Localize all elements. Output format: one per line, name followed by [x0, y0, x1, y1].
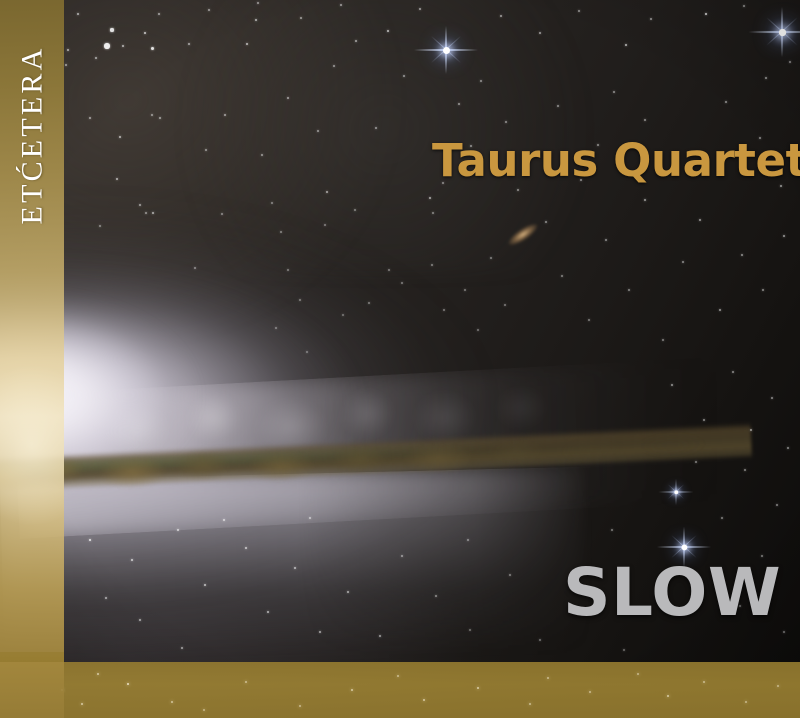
star — [509, 574, 511, 576]
star — [221, 213, 223, 215]
star — [224, 114, 226, 116]
star — [208, 9, 210, 11]
star — [545, 221, 547, 223]
star — [379, 635, 381, 637]
star — [667, 695, 669, 697]
star — [703, 419, 705, 421]
star — [477, 329, 479, 331]
star — [429, 197, 431, 199]
star — [504, 304, 506, 306]
star — [368, 302, 370, 304]
star — [741, 254, 743, 256]
star — [77, 13, 79, 15]
star — [245, 681, 247, 683]
star — [105, 597, 107, 599]
star — [194, 267, 196, 269]
record-label-spine-wrapper: ETĆETERA — [0, 0, 64, 718]
star — [557, 105, 559, 107]
star — [95, 57, 97, 59]
star — [144, 32, 146, 34]
star — [188, 43, 190, 45]
star — [309, 517, 311, 519]
star — [354, 209, 356, 211]
star — [287, 269, 289, 271]
star — [388, 269, 390, 271]
star — [744, 469, 746, 471]
star — [699, 219, 701, 221]
star — [517, 189, 519, 191]
star — [89, 117, 91, 119]
star — [342, 314, 344, 316]
star — [326, 191, 328, 193]
star — [171, 701, 173, 703]
star — [611, 529, 613, 531]
album-title: SLOW — [563, 554, 781, 631]
star — [613, 91, 615, 93]
star — [255, 19, 257, 21]
star — [719, 309, 721, 311]
star — [122, 45, 124, 47]
album-cover: ETĆETERA Taurus Quartet SLOW — [0, 0, 800, 718]
star — [671, 384, 673, 386]
star — [561, 275, 563, 277]
star — [490, 257, 492, 259]
star — [625, 44, 627, 46]
star — [650, 18, 652, 20]
star — [139, 619, 141, 621]
star — [477, 687, 479, 689]
star — [159, 117, 161, 119]
star — [750, 429, 752, 431]
star — [116, 178, 118, 180]
star — [65, 64, 67, 66]
star — [403, 75, 405, 77]
star — [662, 339, 664, 341]
star — [529, 703, 531, 705]
record-label-name: ETĆETERA — [15, 46, 49, 225]
star — [205, 149, 207, 151]
star — [401, 282, 403, 284]
star — [67, 49, 69, 51]
star — [245, 547, 247, 549]
star — [745, 701, 747, 703]
star — [81, 703, 83, 705]
star — [319, 631, 321, 633]
star — [762, 289, 764, 291]
star — [605, 239, 607, 241]
star — [589, 691, 591, 693]
star — [419, 8, 421, 10]
star — [110, 28, 113, 31]
star — [505, 121, 507, 123]
star — [151, 47, 154, 50]
star — [637, 673, 639, 675]
star — [267, 611, 269, 613]
star — [271, 202, 273, 204]
star — [789, 61, 791, 63]
star — [333, 65, 335, 67]
star — [317, 130, 319, 132]
star — [458, 103, 460, 105]
star — [223, 519, 225, 521]
star — [119, 136, 121, 138]
star — [375, 127, 377, 129]
star — [299, 299, 301, 301]
star — [500, 15, 502, 17]
star — [682, 261, 684, 263]
star — [776, 504, 778, 506]
star — [705, 13, 708, 16]
star — [181, 647, 183, 649]
star — [695, 461, 697, 463]
star — [725, 101, 727, 103]
star — [435, 595, 437, 597]
star — [644, 199, 646, 201]
star — [152, 212, 154, 214]
star — [204, 584, 206, 586]
star — [131, 559, 133, 561]
star — [97, 673, 99, 675]
star — [203, 709, 205, 711]
star — [787, 447, 789, 449]
star — [261, 154, 263, 156]
star — [464, 289, 466, 291]
star — [324, 224, 326, 226]
star — [480, 80, 482, 82]
star — [401, 555, 403, 557]
star — [777, 685, 779, 687]
star — [275, 327, 277, 329]
star — [423, 699, 425, 701]
star — [151, 114, 153, 116]
star — [703, 681, 705, 683]
star — [104, 43, 109, 48]
star — [299, 705, 301, 707]
star — [287, 97, 289, 99]
bottom-band-star-layer — [0, 662, 800, 718]
star — [783, 631, 785, 633]
star — [397, 675, 399, 677]
star — [351, 689, 353, 691]
star — [547, 677, 549, 679]
star — [431, 264, 433, 266]
star — [145, 212, 147, 214]
star — [340, 4, 342, 6]
star — [306, 351, 308, 353]
star — [721, 517, 723, 519]
artist-title: Taurus Quartet — [432, 134, 800, 187]
star — [469, 629, 471, 631]
star — [294, 567, 296, 569]
star — [628, 289, 630, 291]
star — [644, 119, 646, 121]
star — [177, 529, 179, 531]
star — [347, 591, 349, 593]
star — [732, 371, 734, 373]
star — [743, 5, 745, 7]
star — [771, 397, 773, 399]
star — [158, 13, 160, 15]
star — [387, 30, 389, 32]
star — [783, 235, 785, 237]
star — [539, 639, 541, 641]
star — [432, 212, 434, 214]
star — [623, 649, 625, 651]
star — [89, 539, 91, 541]
star — [300, 17, 302, 19]
star — [443, 309, 445, 311]
star — [539, 32, 541, 34]
star — [99, 225, 101, 227]
star — [280, 231, 282, 233]
star — [127, 683, 130, 686]
star — [467, 539, 469, 541]
star — [588, 319, 590, 321]
star — [765, 77, 767, 79]
star — [139, 204, 141, 206]
star — [578, 10, 580, 12]
star — [246, 43, 248, 45]
star — [257, 2, 259, 4]
star — [355, 40, 357, 42]
